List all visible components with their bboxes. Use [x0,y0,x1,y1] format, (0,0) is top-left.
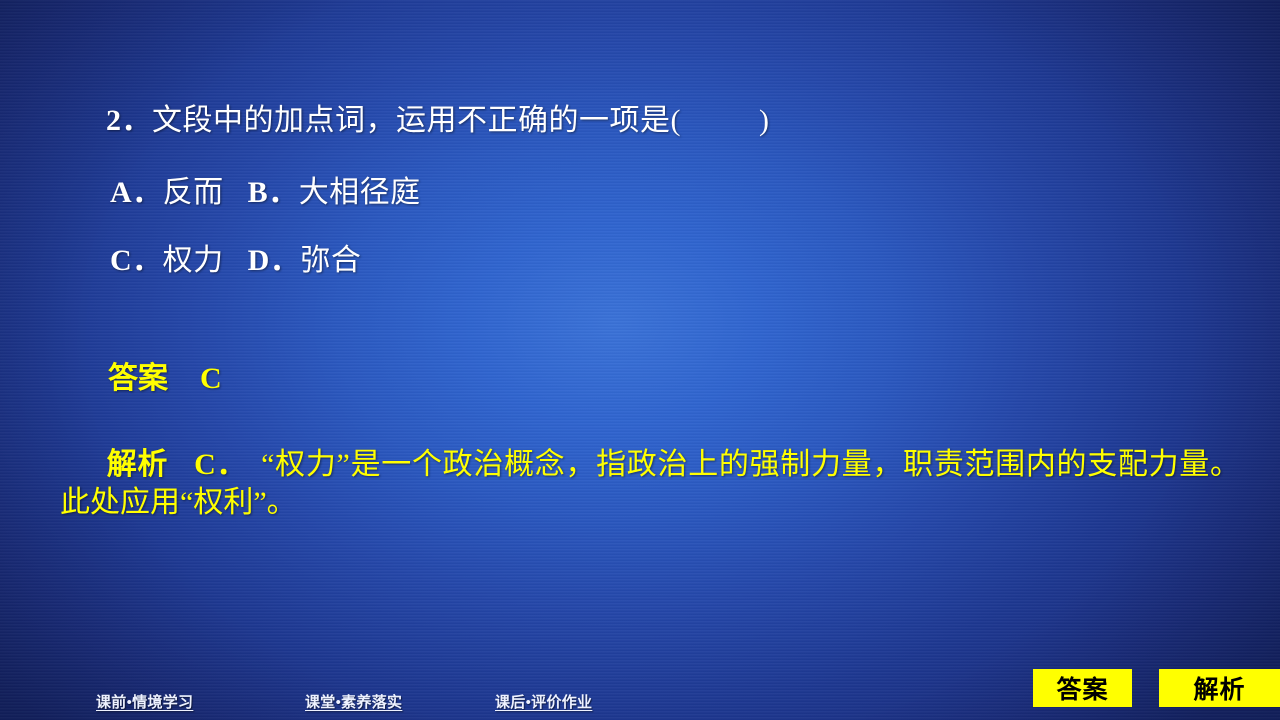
show-analysis-button[interactable]: 解析 [1159,669,1280,707]
option-row-ab: A．反而B．大相径庭 [110,178,421,208]
option-d-sep: ． [270,244,301,277]
question-number: 2 [106,104,122,137]
answer-value: C [200,362,222,395]
option-row-cd: C．权力D．弥合 [110,246,361,276]
option-c-label: C [110,244,132,277]
nav-item-post-class[interactable]: 课后•评价作业 [495,691,592,712]
nav-item-in-class[interactable]: 课堂•素养落实 [305,691,402,712]
option-d-label: D [248,244,270,277]
answer-label: 答案 [108,362,168,395]
slide-content: 2．文段中的加点词，运用不正确的一项是() A．反而B．大相径庭 C．权力D．弥… [0,0,1280,720]
nav-item-pre-class[interactable]: 课前•情境学习 [96,691,193,712]
question-number-dot: ． [122,104,153,137]
question-stem: 2．文段中的加点词，运用不正确的一项是() [106,106,770,136]
answer-row: 答案C [108,364,222,394]
show-answer-button[interactable]: 答案 [1033,669,1132,707]
analysis-block: 解析C．“权力”是一个政治概念，指政治上的强制力量，职责范围内的支配力量。此处应… [60,446,1240,523]
analysis-label: 解析 [106,448,168,481]
option-a-text[interactable]: 反而 [163,176,224,209]
option-a-sep: ． [132,176,163,209]
option-a-label: A [110,176,132,209]
question-blank-close: ) [759,104,770,137]
option-b-sep: ． [268,176,299,209]
slide-canvas: 2．文段中的加点词，运用不正确的一项是() A．反而B．大相径庭 C．权力D．弥… [0,0,1280,720]
option-c-text[interactable]: 权力 [163,244,224,277]
option-c-sep: ． [132,244,163,277]
option-d-text[interactable]: 弥合 [300,244,361,277]
option-b-text[interactable]: 大相径庭 [299,176,421,209]
analysis-option: C． [194,448,247,481]
question-stem-text: 文段中的加点词，运用不正确的一项是( [152,104,681,137]
option-b-label: B [248,176,269,209]
